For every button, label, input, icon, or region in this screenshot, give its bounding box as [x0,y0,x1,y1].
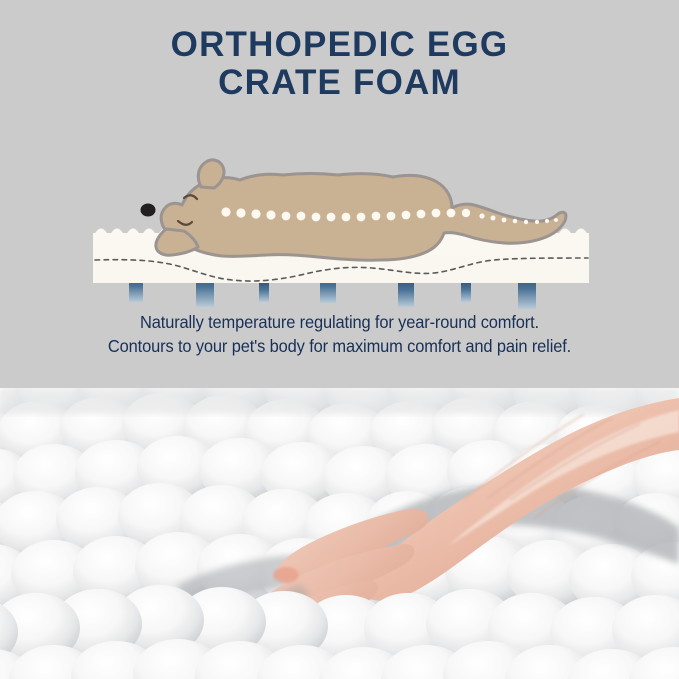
infographic-panel: ORTHOPEDIC EGG CRATE FOAM [0,0,679,388]
photo-soft-overlay [0,388,679,679]
caption-line-1: Naturally temperature regulating for yea… [20,311,658,335]
product-feature-image: ORTHOPEDIC EGG CRATE FOAM [0,0,679,679]
title-line-1: ORTHOPEDIC EGG [0,26,679,64]
feature-caption: Naturally temperature regulating for yea… [0,311,679,358]
dog-nose [141,204,156,217]
title-line-2: CRATE FOAM [0,64,679,102]
caption-line-2: Contours to your pet's body for maximum … [20,335,658,359]
dog-on-foam-diagram [0,125,679,310]
hand-pressing-egg-crate-foam-photo [0,388,679,679]
page-title: ORTHOPEDIC EGG CRATE FOAM [0,26,679,102]
dog-ear [198,160,224,188]
